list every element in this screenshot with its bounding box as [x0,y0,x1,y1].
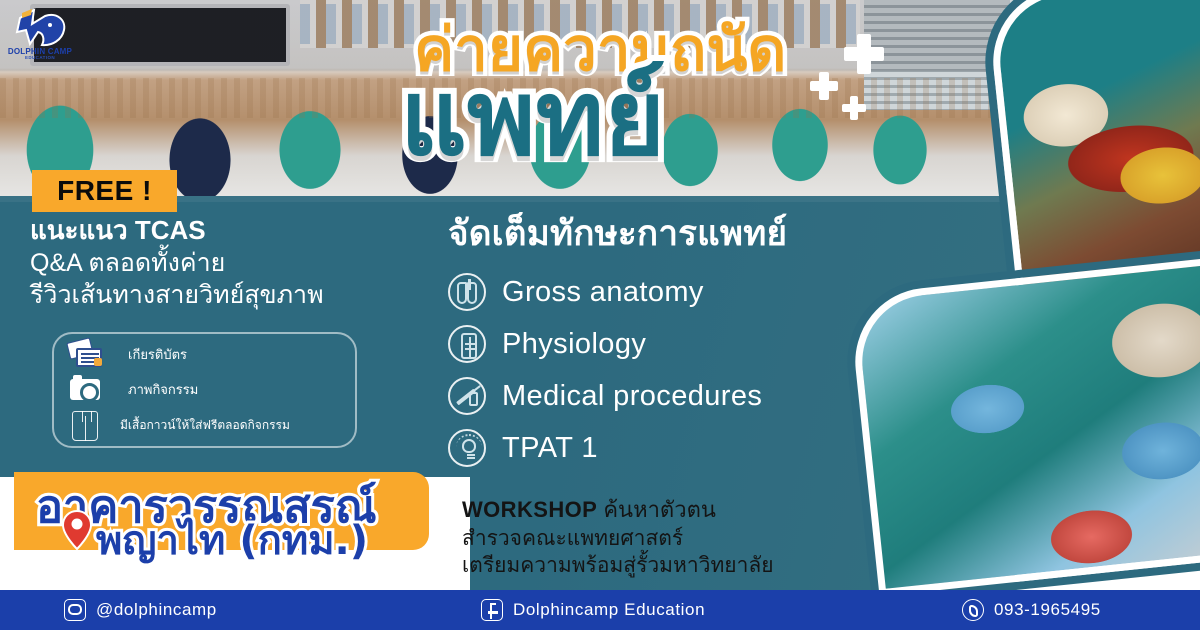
free-badge: FREE ! [32,170,177,212]
skills-block: จัดเต็มทักษะการแพทย์ Gross anatomy Physi… [448,206,868,469]
lungs-icon [448,273,486,311]
window-blinds [864,0,1014,110]
facebook-icon [481,599,503,621]
list-item: Medical procedures [448,375,868,417]
workshop-block: WORKSHOP ค้นหาตัวตน สำรวจคณะแพทยศาสตร์ เ… [462,496,862,580]
list-item: ภาพกิจกรรม [64,372,349,406]
list-item: TPAT 1 [448,427,868,469]
list-item: มีเสื้อกาวน์ให้ใส่ฟรีตลอดกิจกรรม [64,408,349,442]
contact-line[interactable]: @dolphincamp [64,599,217,621]
location-area: พญาไท (กทม.) [96,508,368,572]
list-item: เกียรติบัตร [64,337,349,371]
dissection-workshop-photo [848,257,1200,596]
dolphin-logo-icon [12,6,68,50]
map-pin-icon [62,510,92,550]
surgery-closeup-photo [986,0,1200,294]
skill-label: Physiology [502,328,646,361]
medical-cross-icon [844,34,884,74]
footer-contact-bar: @dolphincamp Dolphincamp Education 093-1… [0,590,1200,630]
syringe-icon [448,377,486,415]
phone-icon [962,599,984,621]
workshop-line-2: สำรวจคณะแพทยศาสตร์ [462,525,862,553]
workshop-title-strong: WORKSHOP [462,497,597,522]
poster-title: ค่ายความถนัด แพทย์ [386,8,856,190]
lightbulb-icon [448,429,486,467]
workshop-title-rest: ค้นหาตัวตน [597,497,716,522]
medical-cross-icon [810,72,838,100]
skill-label: Gross anatomy [502,276,704,309]
contact-facebook[interactable]: Dolphincamp Education [481,599,705,621]
perk-label: ภาพกิจกรรม [128,379,198,400]
logo-sub: EDUCATION [6,56,74,61]
line-icon [64,599,86,621]
workshop-line-3: เตรียมความพร้อมสู่รั้วมหาวิทยาลัย [462,552,862,580]
skills-heading: จัดเต็มทักษะการแพทย์ [448,206,868,261]
contact-label: 093-1965495 [994,600,1101,620]
list-item: Physiology [448,323,868,365]
perk-label: มีเสื้อกาวน์ให้ใส่ฟรีตลอดกิจกรรม [120,416,290,435]
contact-label: @dolphincamp [96,600,217,620]
medical-cross-icon [842,96,866,120]
promo-poster: DOLPHIN CAMP EDUCATION ค่ายความถนัด แพทย… [0,0,1200,630]
review-line: รีวิวเส้นทางสายวิทย์สุขภาพ [30,279,410,312]
list-item: Gross anatomy [448,271,868,313]
left-copy-block: แนะแนว TCAS Q&A ตลอดทั้งค่าย รีวิวเส้นทา… [30,214,410,312]
certificate-icon [64,338,108,370]
contact-phone[interactable]: 093-1965495 [962,599,1101,621]
brand-logo[interactable]: DOLPHIN CAMP EDUCATION [6,4,74,70]
skill-label: TPAT 1 [502,432,598,465]
contact-label: Dolphincamp Education [513,600,705,620]
lab-coat-icon [64,409,108,441]
camera-icon [64,373,108,405]
skill-label: Medical procedures [502,380,762,413]
logo-wordmark: DOLPHIN CAMP EDUCATION [6,48,74,61]
title-line-2: แพทย์ [400,66,665,170]
tcas-headline: แนะแนว TCAS [30,214,410,247]
perks-box: เกียรติบัตร ภาพกิจกรรม มีเสื้อกาวน์ให้ใส… [52,332,357,448]
location-badge: อาคารวรรณสรณ์ พญาไท (กทม.) [14,472,429,550]
anatomy-body-icon [448,325,486,363]
qa-line: Q&A ตลอดทั้งค่าย [30,247,410,280]
perk-label: เกียรติบัตร [128,344,187,365]
workshop-title: WORKSHOP ค้นหาตัวตน [462,496,862,525]
